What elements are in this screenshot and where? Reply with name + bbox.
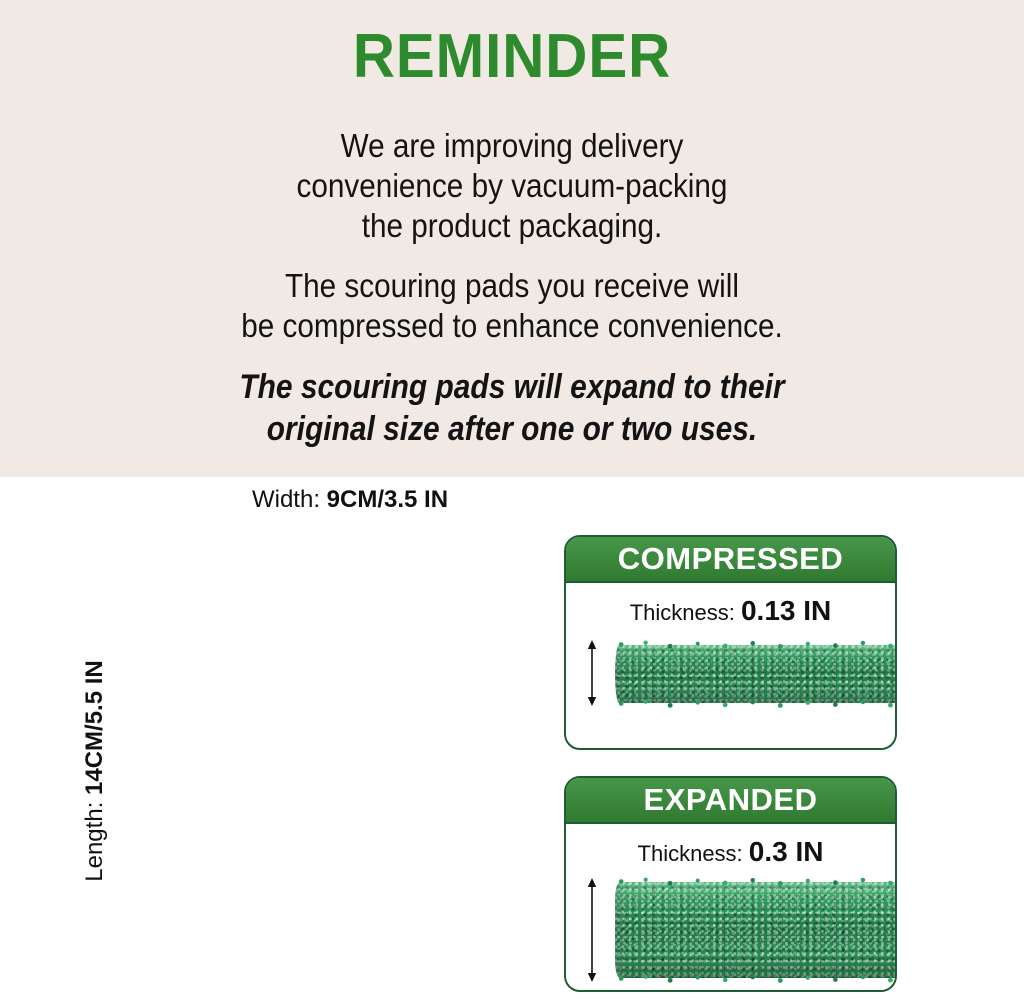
expanded-thickness-prefix: Thickness: [638,841,749,866]
compressed-card: COMPRESSED Thickness: 0.13 IN [564,535,897,750]
compressed-strip-fuzz-top [612,640,897,649]
expanded-pad-strip [615,882,897,978]
width-label-prefix: Width: [252,486,327,513]
reminder-paragraph-3: The scouring pads will expand to their o… [61,366,962,450]
compressed-pad-strip [615,645,897,703]
expanded-card-header: EXPANDED [566,778,895,824]
expanded-card-body: Thickness: 0.3 IN [566,824,895,990]
expanded-strip-fuzz-top [612,877,897,886]
length-label-value: 14CM/5.5 IN [81,660,108,795]
expanded-thickness-arrow-icon [586,878,598,982]
pad-dimension-block: Width: 9CM/3.5 IN Length: 14CM/5.5 IN [0,477,540,999]
reminder-paragraph-3-line-1: The scouring pads will expand to their [61,366,962,408]
reminder-paragraph-3-line-2: original size after one or two uses. [61,408,962,450]
width-dimension-label: Width: 9CM/3.5 IN [150,486,550,514]
compressed-thickness-value: 0.13 IN [741,595,831,626]
reminder-paragraph-2-line-2: be compressed to enhance convenience. [51,306,973,346]
length-dimension-label: Length: 14CM/5.5 IN [81,641,109,901]
length-label-prefix: Length: [81,795,108,882]
infographic-page: REMINDER We are improving delivery conve… [0,0,1024,999]
reminder-paragraph-1-line-1: We are improving delivery [51,126,973,166]
compressed-card-header: COMPRESSED [566,537,895,583]
reminder-paragraph-1: We are improving delivery convenience by… [51,126,973,246]
expanded-thickness-label: Thickness: 0.3 IN [566,836,895,868]
reminder-paragraph-1-line-3: the product packaging. [51,206,973,246]
compressed-thickness-label: Thickness: 0.13 IN [566,595,895,627]
reminder-banner: REMINDER We are improving delivery conve… [0,0,1024,477]
width-label-value: 9CM/3.5 IN [327,486,448,513]
compressed-strip-fuzz-bottom [612,699,897,708]
compressed-thickness-arrow-icon [586,640,598,706]
expanded-strip-fuzz-bottom [612,974,897,983]
reminder-title: REMINDER [31,24,994,90]
compressed-thickness-prefix: Thickness: [630,600,741,625]
product-area: Width: 9CM/3.5 IN Length: 14CM/5.5 IN CO… [0,477,1024,999]
expanded-thickness-value: 0.3 IN [749,836,824,867]
expanded-card: EXPANDED Thickness: 0.3 IN [564,776,897,992]
reminder-paragraph-2: The scouring pads you receive will be co… [51,266,973,346]
compressed-card-body: Thickness: 0.13 IN [566,583,895,748]
reminder-paragraph-1-line-2: convenience by vacuum-packing [51,166,973,206]
reminder-paragraph-2-line-1: The scouring pads you receive will [51,266,973,306]
